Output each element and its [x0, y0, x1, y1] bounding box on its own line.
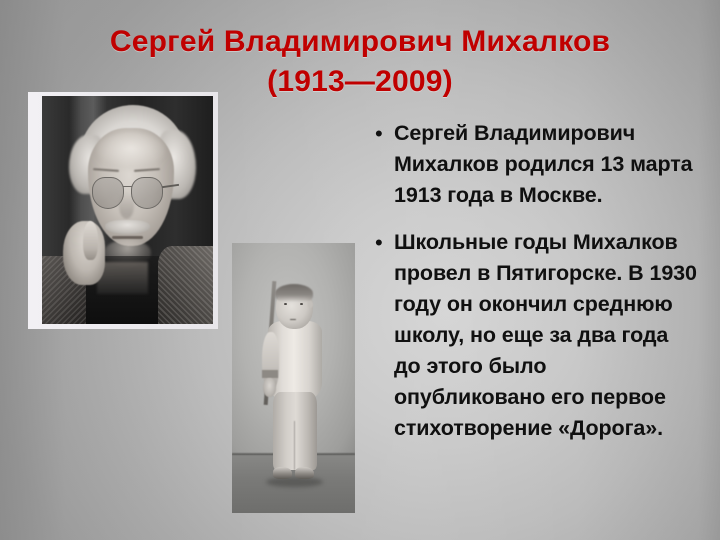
portrait-photo-image	[42, 96, 213, 324]
list-item-text: Сергей Владимирович Михалков родился 13 …	[394, 118, 700, 211]
portrait-eyeglass-right	[131, 177, 163, 209]
bullet-icon: •	[370, 227, 394, 258]
list-item: • Сергей Владимирович Михалков родился 1…	[370, 118, 700, 211]
list-item: • Школьные годы Михалков провел в Пятиго…	[370, 227, 700, 444]
portrait-eyeglass-bridge	[123, 186, 132, 187]
child-photo	[232, 243, 355, 513]
title-line-dates: (1913—2009)	[36, 62, 684, 102]
child-hair	[275, 284, 313, 303]
portrait-finger	[83, 221, 98, 260]
portrait-photo	[28, 92, 218, 329]
child-mouth	[290, 319, 296, 321]
list-item-text: Школьные годы Михалков провел в Пятигорс…	[394, 227, 700, 444]
child-shoe-right	[295, 467, 315, 479]
bullet-icon: •	[370, 118, 394, 149]
portrait-forehead	[97, 132, 165, 168]
child-leg-seam	[294, 421, 296, 470]
child-sleeve-cuff	[262, 370, 278, 378]
child-photo-image	[232, 243, 355, 513]
title-line-name: Сергей Владимирович Михалков	[36, 22, 684, 62]
page-title: Сергей Владимирович Михалков (1913—2009)	[36, 22, 684, 102]
child-shoe-left	[273, 467, 293, 479]
portrait-jacket-right	[158, 246, 213, 324]
child-hand	[263, 378, 277, 397]
portrait-moustache	[105, 220, 149, 234]
bullet-list: • Сергей Владимирович Михалков родился 1…	[370, 118, 700, 444]
presentation-slide: Сергей Владимирович Михалков (1913—2009)	[0, 0, 720, 540]
portrait-mouth	[112, 236, 143, 239]
